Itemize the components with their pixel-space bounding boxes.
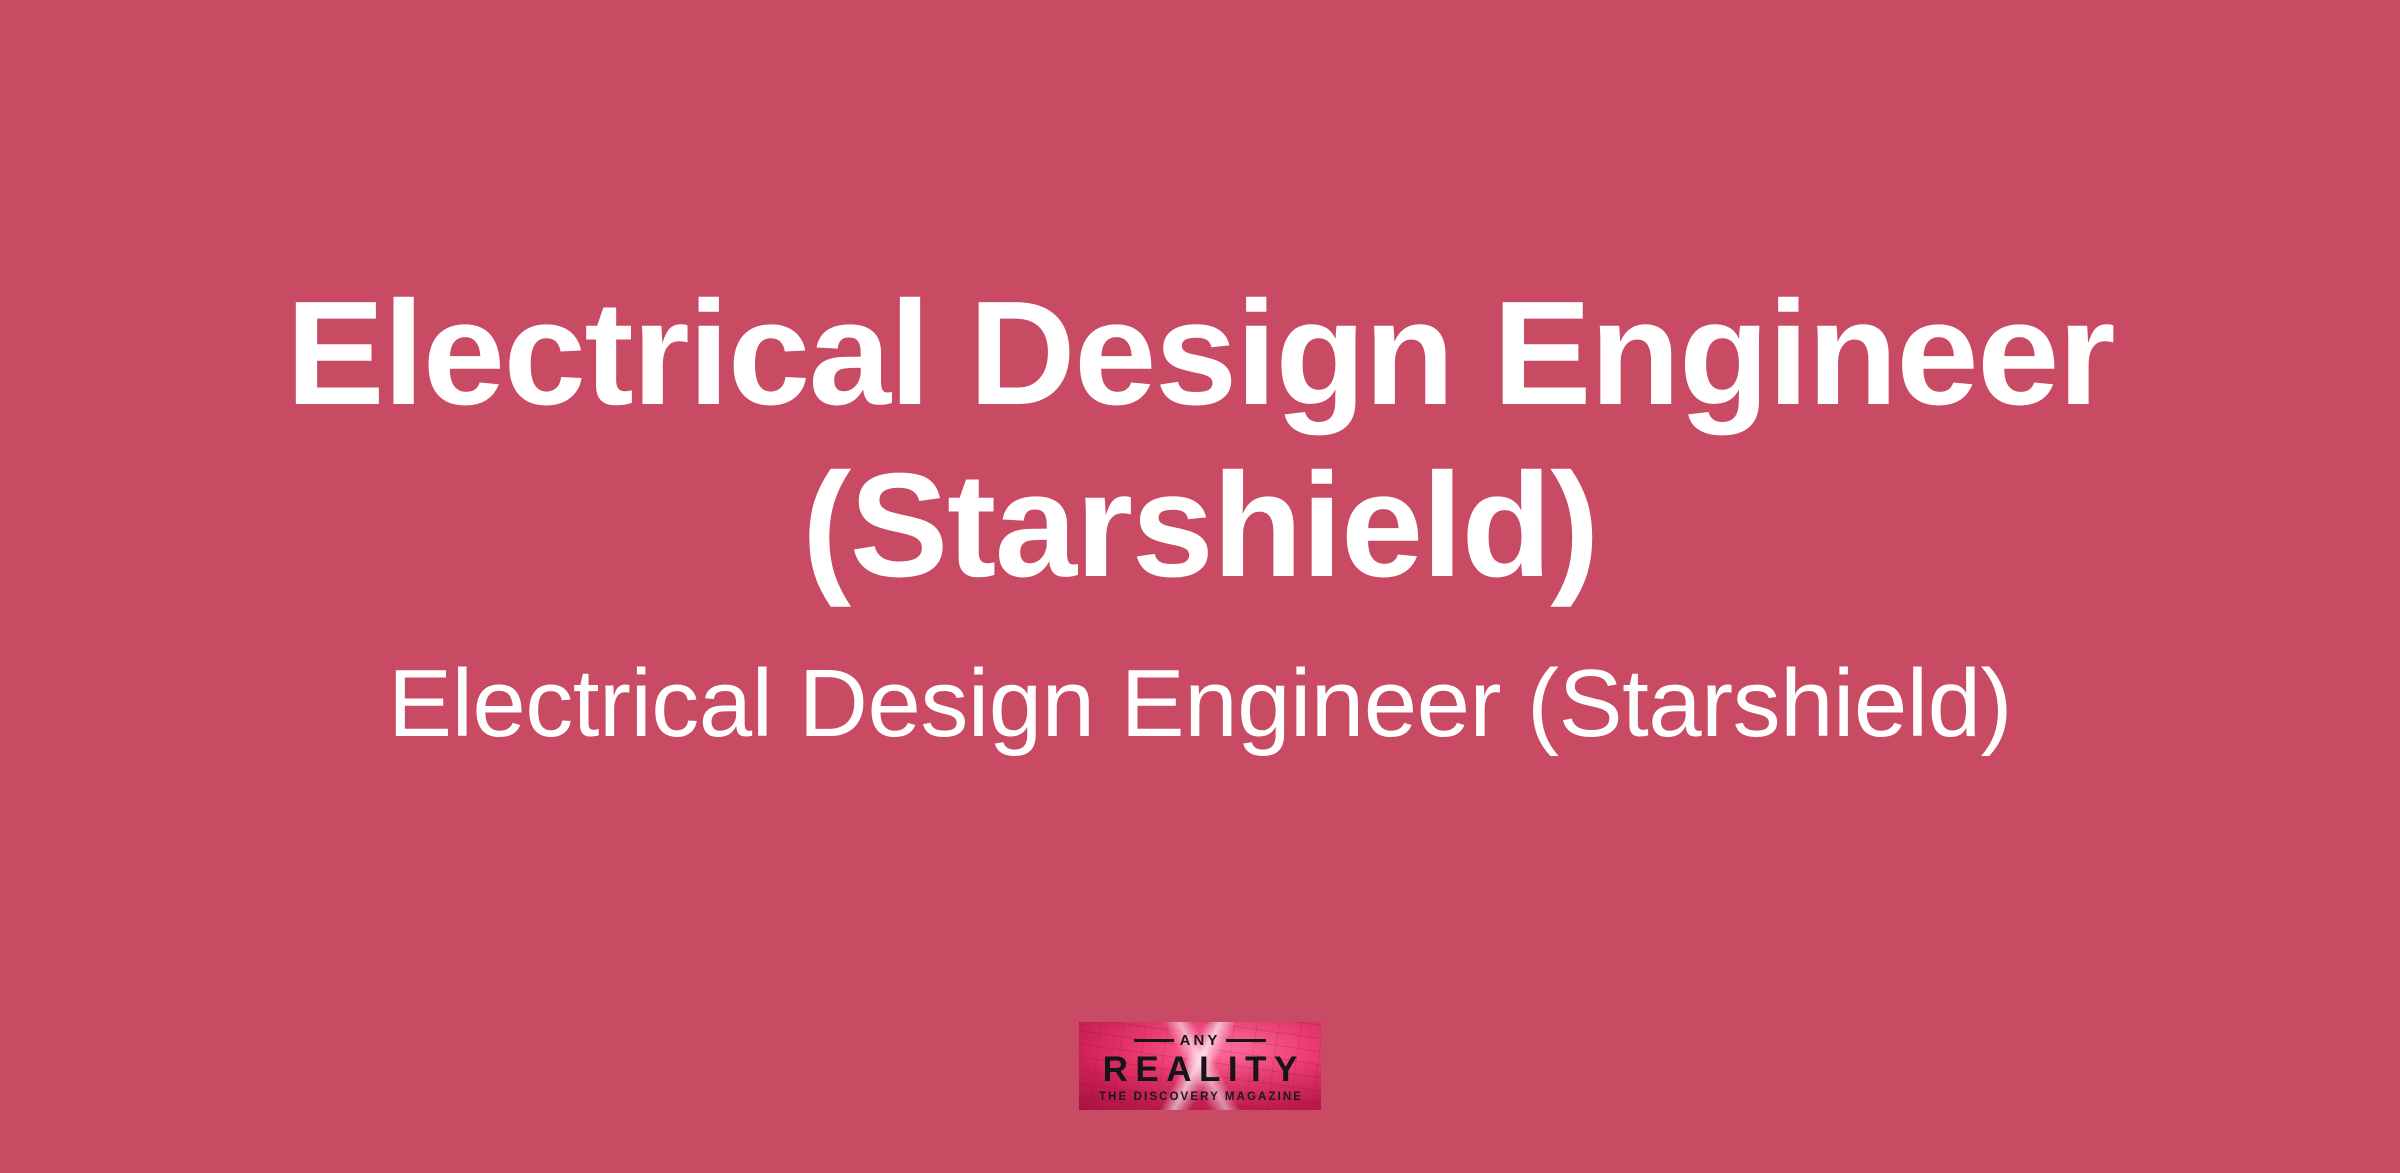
card-content: Electrical Design Engineer (Starshield) … bbox=[0, 0, 2400, 1173]
page-title: Electrical Design Engineer (Starshield) bbox=[200, 268, 2200, 611]
logo-eyebrow-row: ANY bbox=[1134, 1031, 1267, 1051]
any-reality-logo[interactable]: ANY REALITY THE DISCOVERY MAGAZINE bbox=[1079, 1022, 1321, 1110]
logo-lockup: ANY REALITY THE DISCOVERY MAGAZINE bbox=[1079, 1022, 1321, 1110]
logo-tagline: THE DISCOVERY MAGAZINE bbox=[1097, 1092, 1303, 1104]
logo-wordmark: REALITY bbox=[1095, 1052, 1305, 1088]
social-share-card: Electrical Design Engineer (Starshield) … bbox=[0, 0, 2400, 1173]
logo-eyebrow-text: ANY bbox=[1180, 1033, 1221, 1048]
logo-rule-right-icon bbox=[1226, 1039, 1266, 1042]
page-subtitle: Electrical Design Engineer (Starshield) bbox=[150, 646, 2250, 761]
logo-rule-left-icon bbox=[1134, 1039, 1174, 1042]
